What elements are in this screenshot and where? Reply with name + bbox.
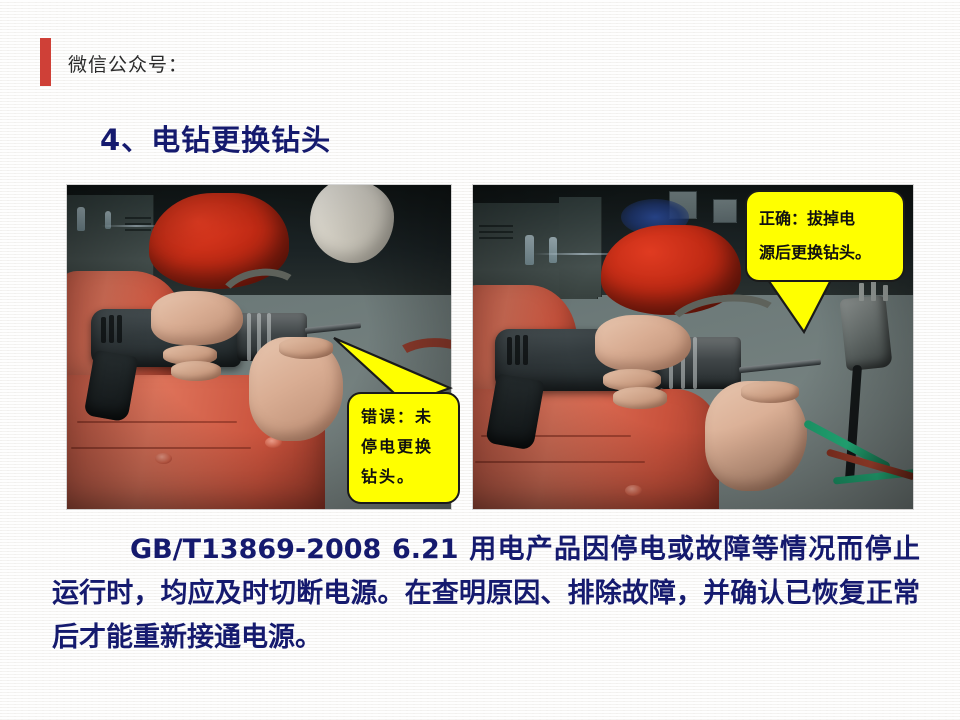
- page-title: 4、电钻更换钻头: [100, 117, 331, 159]
- cabinet-slat: [479, 237, 513, 239]
- callout-right-line1: 正确：拔掉电: [759, 202, 895, 236]
- plug-pin: [883, 285, 888, 301]
- callout-left-line3: 钻头。: [361, 462, 450, 492]
- drill-vent: [117, 315, 122, 343]
- cabinet-slat: [479, 225, 513, 227]
- coverall-button: [155, 453, 172, 464]
- worker-hand-left: [595, 315, 691, 371]
- bottle: [549, 237, 557, 263]
- bottle: [77, 207, 85, 231]
- cabinet-slat: [125, 229, 151, 231]
- wall-poster: [713, 199, 737, 223]
- callout-incorrect: 错误：未 停电更换 钻头。: [347, 392, 460, 504]
- drill-vent: [515, 335, 520, 365]
- drill-vent: [507, 337, 512, 365]
- worker-hand-left: [151, 291, 243, 345]
- callout-right-line2: 源后更换钻头。: [759, 236, 895, 270]
- drill-vent: [523, 335, 528, 365]
- coverall-button: [625, 485, 642, 496]
- slide-canvas: 微信公众号： 4、电钻更换钻头: [0, 0, 960, 720]
- bottle: [525, 235, 534, 265]
- callout-correct: 正确：拔掉电 源后更换钻头。: [745, 190, 905, 282]
- callout-right-tail: [760, 272, 850, 342]
- standard-reference: GB/T13869-2008: [130, 534, 381, 565]
- finger: [613, 387, 667, 409]
- clause-number: 6.21: [392, 534, 459, 565]
- body-line1-tail: 用电产品因停电或故障等情况: [469, 534, 836, 565]
- plug-pin: [871, 281, 876, 301]
- finger: [171, 361, 221, 381]
- drill-vent: [101, 317, 106, 343]
- cabinet-panel: [559, 197, 602, 297]
- coverall-seam: [71, 447, 251, 449]
- callout-left-line1: 错误：未: [361, 402, 450, 432]
- coverall-seam: [77, 421, 237, 423]
- callout-left-line2: 停电更换: [361, 432, 450, 462]
- drill-vent: [109, 315, 114, 343]
- red-accent-bar: [40, 38, 51, 86]
- finger: [741, 381, 799, 403]
- body-paragraph: GB/T13869-2008 6.21 用电产品因停电或故障等情况而停止运行时，…: [52, 528, 920, 660]
- finger: [279, 337, 333, 359]
- cabinet-slat: [125, 217, 151, 219]
- coverall-seam: [475, 461, 645, 463]
- plug-pin: [859, 283, 864, 301]
- wechat-account-label: 微信公众号：: [68, 50, 188, 77]
- cabinet-slat: [479, 231, 513, 233]
